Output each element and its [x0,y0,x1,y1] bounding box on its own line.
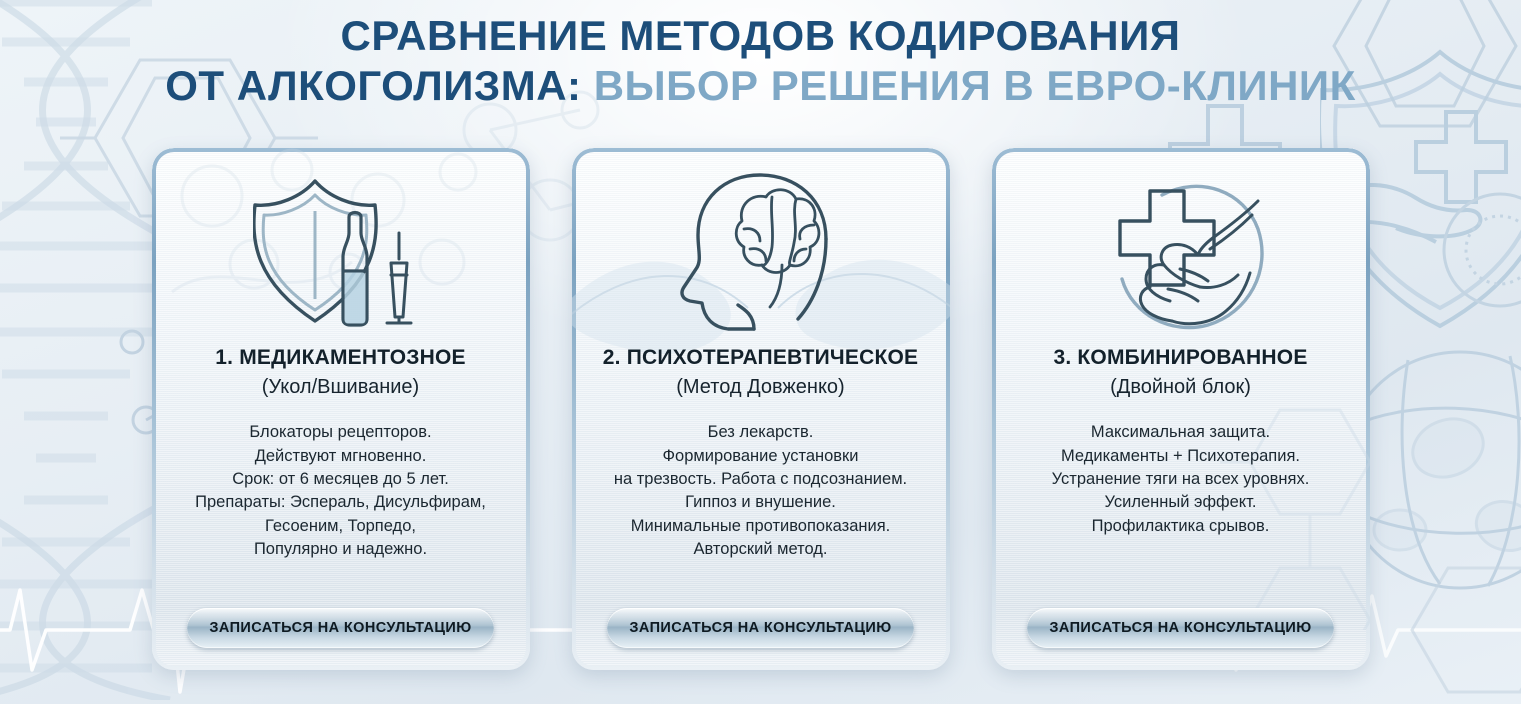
card-2-line-5: Минимальные противопоказания. [614,515,907,538]
card-3-line-2: Медикаменты + Психотерапия. [1052,445,1310,468]
card-3-line-1: Максимальная защита. [1052,421,1310,444]
card-2-title: 2. ПСИХОТЕРАПЕВТИЧЕСКОЕ [603,346,918,370]
card-1-subtitle: (Укол/Вшивание) [262,375,419,399]
card-2-line-6: Авторский метод. [614,538,907,561]
card-1-icon-area [253,162,429,344]
shield-ampoule-syringe-icon [253,171,429,335]
card-1-line-4: Препараты: Эспераль, Дисульфирам, [195,491,486,514]
card-1-cta-button[interactable]: Записаться на консультацию [187,608,493,648]
poster-header: Сравнение методов кодирования от алкогол… [0,14,1521,107]
card-2-body: Без лекарств. Формирование установки на … [614,421,907,562]
method-card-psychotherapy[interactable]: 2. ПСИХОТЕРАПЕВТИЧЕСКОЕ (Метод Довженко)… [572,148,950,670]
title-line-2: от алкоголизма: Выбор решения в Евро-Кли… [0,64,1521,108]
poster-canvas: Сравнение методов кодирования от алкогол… [0,0,1521,704]
card-2-line-4: Гиппоз и внушение. [614,491,907,514]
title-line-2-dark: от алкоголизма: [165,62,581,109]
card-2-icon-area [676,162,846,344]
card-1-line-3: Срок: от 6 месяцев до 5 лет. [195,468,486,491]
card-3-title: 3. КОМБИНИРОВАННОЕ [1053,346,1307,370]
card-1-line-6: Популярно и надежно. [195,538,486,561]
card-2-line-3: на трезвость. Работа с подсознанием. [614,468,907,491]
method-cards-row: 1. МЕДИКАМЕНТОЗНОЕ (Укол/Вшивание) Блока… [0,148,1521,672]
card-2-cta-button[interactable]: Записаться на консультацию [607,608,913,648]
head-brain-icon [676,169,846,337]
card-1-cta-label: Записаться на консультацию [209,620,471,636]
card-1-body: Блокаторы рецепторов. Действуют мгновенн… [195,421,486,562]
card-2-line-2: Формирование установки [614,445,907,468]
method-card-combined[interactable]: 3. КОМБИНИРОВАННОЕ (Двойной блок) Максим… [992,148,1370,670]
card-3-line-5: Профилактика срывов. [1052,515,1310,538]
card-2-cta-label: Записаться на консультацию [629,620,891,636]
title-line-1: Сравнение методов кодирования [0,14,1521,58]
method-card-medication[interactable]: 1. МЕДИКАМЕНТОЗНОЕ (Укол/Вшивание) Блока… [152,148,530,670]
card-3-line-4: Усиленный эффект. [1052,491,1310,514]
card-1-title: 1. МЕДИКАМЕНТОЗНОЕ [215,346,465,370]
card-3-cta-label: Записаться на консультацию [1049,620,1311,636]
cross-helping-hands-icon [1088,171,1274,335]
card-3-icon-area [1088,162,1274,344]
card-3-cta-button[interactable]: Записаться на консультацию [1027,608,1333,648]
card-2-subtitle: (Метод Довженко) [676,375,844,399]
card-1-line-5: Гесоеним, Торпедо, [195,515,486,538]
card-3-subtitle: (Двойной блок) [1110,375,1251,399]
card-2-line-1: Без лекарств. [614,421,907,444]
card-1-line-2: Действуют мгновенно. [195,445,486,468]
title-line-2-light: Выбор решения в Евро-Клиник [594,62,1356,109]
card-3-line-3: Устранение тяги на всех уровнях. [1052,468,1310,491]
card-1-line-1: Блокаторы рецепторов. [195,421,486,444]
card-3-body: Максимальная защита. Медикаменты + Психо… [1052,421,1310,538]
